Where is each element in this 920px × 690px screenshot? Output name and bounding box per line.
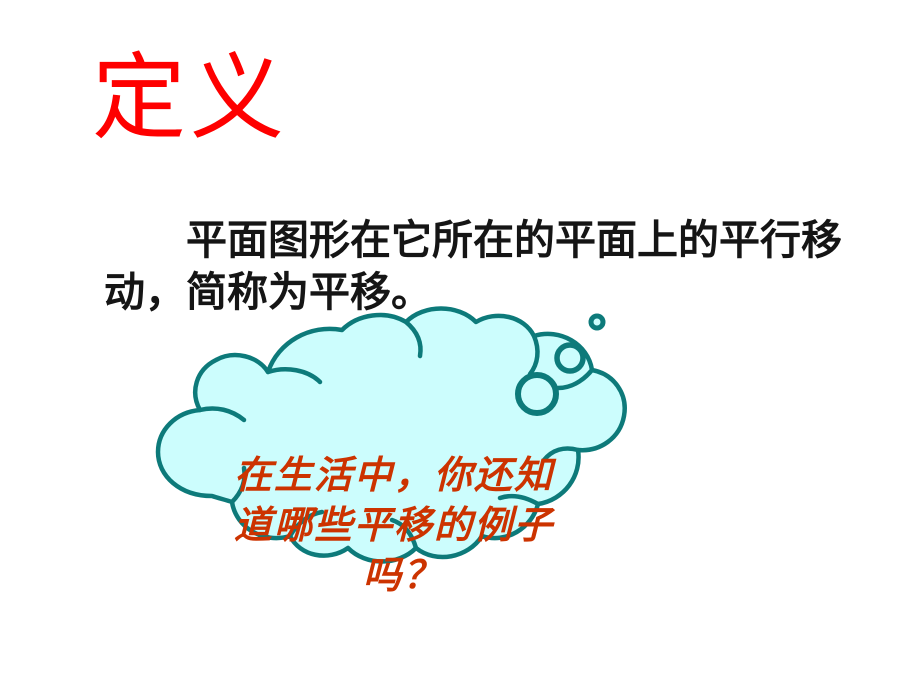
trail-bubble-large <box>518 375 556 413</box>
thought-bubble-text: 在生活中，你还知 道哪些平移的例子 吗？ <box>228 450 578 600</box>
trail-bubble-small <box>591 316 603 328</box>
slide-canvas: 定义 平面图形在它所在的平面上的平行移动，简称为平移。 <box>0 0 920 690</box>
bubble-text-line-1: 在生活中，你还知 <box>228 450 578 500</box>
trail-bubble-medium <box>557 345 583 371</box>
bubble-text-line-2: 道哪些平移的例子 <box>228 500 578 550</box>
bubble-text-line-3: 吗？ <box>228 550 578 600</box>
thought-bubble: 在生活中，你还知 道哪些平移的例子 吗？ <box>120 300 640 645</box>
page-title: 定义 <box>92 46 288 151</box>
